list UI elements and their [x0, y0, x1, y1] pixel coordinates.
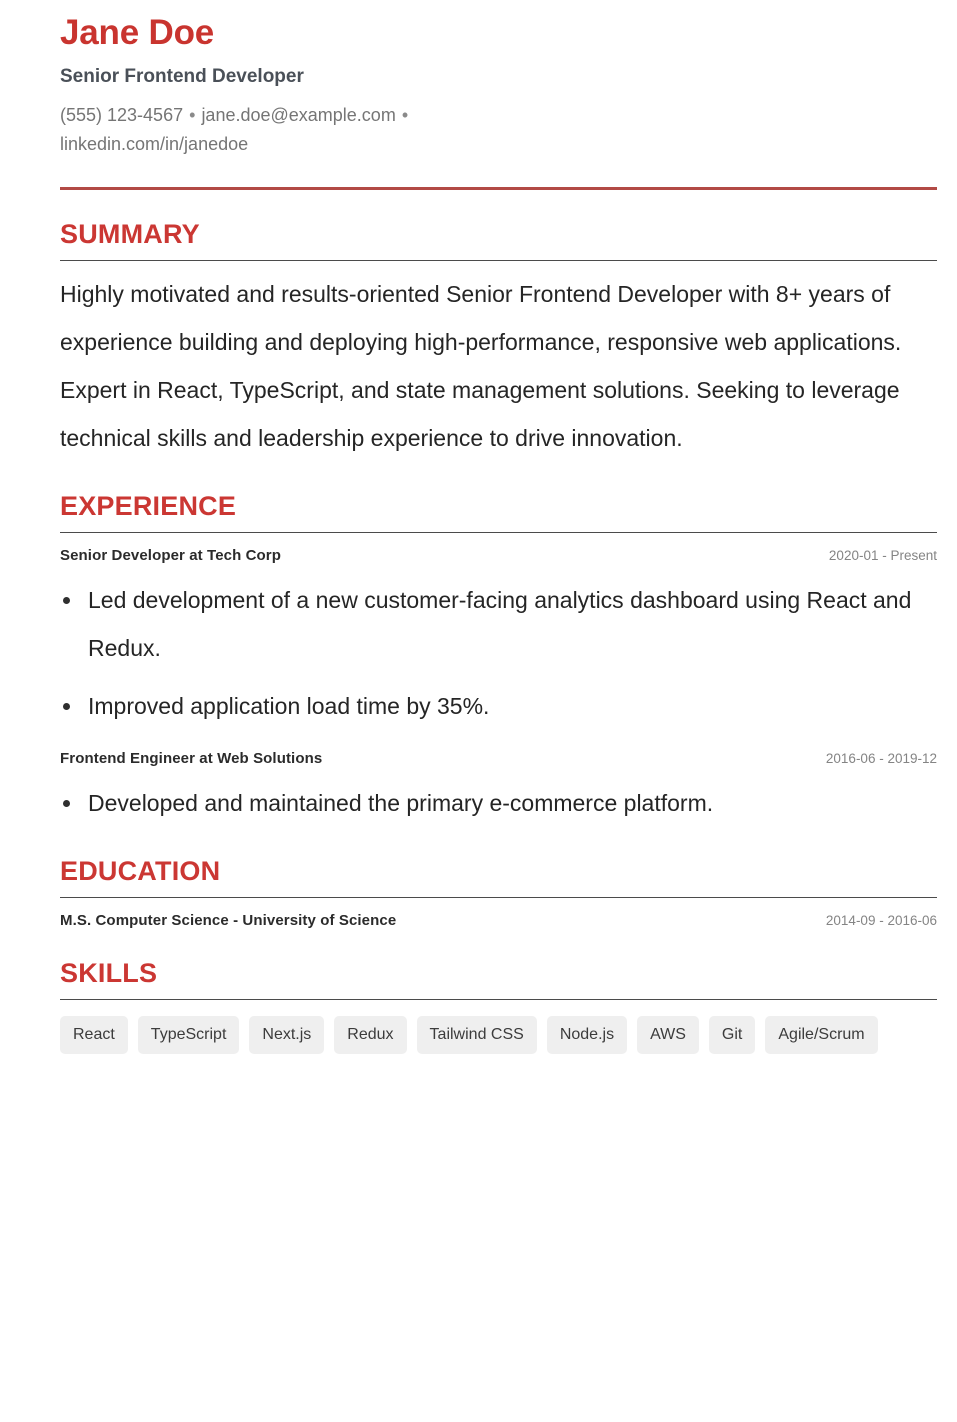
- skill-chip[interactable]: Git: [709, 1016, 755, 1054]
- skill-chip[interactable]: TypeScript: [138, 1016, 240, 1054]
- bullet-dot-icon: [63, 800, 70, 807]
- list-item: Developed and maintained the primary e-c…: [60, 779, 937, 827]
- section-title-education: EDUCATION: [60, 854, 937, 888]
- resume-header: Jane Doe Senior Frontend Developer (555)…: [60, 0, 937, 159]
- resume-page: Jane Doe Senior Frontend Developer (555)…: [0, 0, 957, 1422]
- entry-header: Frontend Engineer at Web Solutions 2016-…: [60, 750, 937, 767]
- contact-line: (555) 123-4567 • jane.doe@example.com • …: [60, 101, 480, 159]
- entry-date: 2016-06 - 2019-12: [810, 751, 937, 766]
- education-entry: M.S. Computer Science - University of Sc…: [60, 912, 937, 929]
- section-title-summary: SUMMARY: [60, 217, 937, 251]
- contact-phone: (555) 123-4567: [60, 105, 183, 125]
- candidate-job-title: Senior Frontend Developer: [60, 64, 937, 90]
- bullet-dot-icon: [63, 597, 70, 604]
- contact-website[interactable]: linkedin.com/in/janedoe: [60, 134, 248, 154]
- section-title-experience: EXPERIENCE: [60, 489, 937, 523]
- skills-chip-list: React TypeScript Next.js Redux Tailwind …: [60, 1016, 937, 1054]
- entry-bullet-list: Led development of a new customer-facing…: [60, 576, 937, 730]
- list-item-text: Improved application load time by 35%.: [88, 693, 489, 719]
- entry-header: Senior Developer at Tech Corp 2020-01 - …: [60, 547, 937, 564]
- skill-chip[interactable]: AWS: [637, 1016, 699, 1054]
- skill-chip[interactable]: Agile/Scrum: [765, 1016, 877, 1054]
- skill-chip[interactable]: Next.js: [249, 1016, 324, 1054]
- list-item: Led development of a new customer-facing…: [60, 576, 937, 672]
- resume-content: Jane Doe Senior Frontend Developer (555)…: [60, 0, 937, 1076]
- entry-title: M.S. Computer Science - University of Sc…: [60, 912, 396, 929]
- summary-paragraph-1: Highly motivated and results-oriented Se…: [60, 270, 937, 366]
- summary-paragraph-2: Expert in React, TypeScript, and state m…: [60, 366, 937, 462]
- list-item: Improved application load time by 35%.: [60, 682, 937, 730]
- contact-email[interactable]: jane.doe@example.com: [201, 105, 395, 125]
- section-divider: [60, 897, 937, 898]
- list-item-text: Led development of a new customer-facing…: [88, 587, 911, 661]
- entry-date: 2014-09 - 2016-06: [810, 913, 937, 928]
- skill-chip[interactable]: Node.js: [547, 1016, 627, 1054]
- contact-separator-icon: •: [188, 105, 196, 125]
- experience-entry: Senior Developer at Tech Corp 2020-01 - …: [60, 547, 937, 730]
- section-experience: EXPERIENCE Senior Developer at Tech Corp…: [60, 489, 937, 827]
- section-title-skills: SKILLS: [60, 956, 937, 990]
- section-divider: [60, 532, 937, 533]
- bottom-spacer: [60, 1054, 937, 1076]
- experience-entry: Frontend Engineer at Web Solutions 2016-…: [60, 750, 937, 827]
- skill-chip[interactable]: Tailwind CSS: [417, 1016, 537, 1054]
- candidate-name: Jane Doe: [60, 11, 937, 55]
- contact-separator-icon: •: [401, 105, 409, 125]
- list-item-text: Developed and maintained the primary e-c…: [88, 790, 713, 816]
- entry-title: Senior Developer at Tech Corp: [60, 547, 281, 564]
- header-divider: [60, 187, 937, 190]
- section-summary: SUMMARY Highly motivated and results-ori…: [60, 217, 937, 462]
- section-divider: [60, 260, 937, 261]
- section-education: EDUCATION M.S. Computer Science - Univer…: [60, 854, 937, 929]
- section-skills: SKILLS React TypeScript Next.js Redux Ta…: [60, 956, 937, 1054]
- entry-bullet-list: Developed and maintained the primary e-c…: [60, 779, 937, 827]
- section-divider: [60, 999, 937, 1000]
- skill-chip[interactable]: React: [60, 1016, 128, 1054]
- entry-date: 2020-01 - Present: [813, 548, 937, 563]
- bullet-dot-icon: [63, 703, 70, 710]
- entry-title: Frontend Engineer at Web Solutions: [60, 750, 322, 767]
- skill-chip[interactable]: Redux: [334, 1016, 406, 1054]
